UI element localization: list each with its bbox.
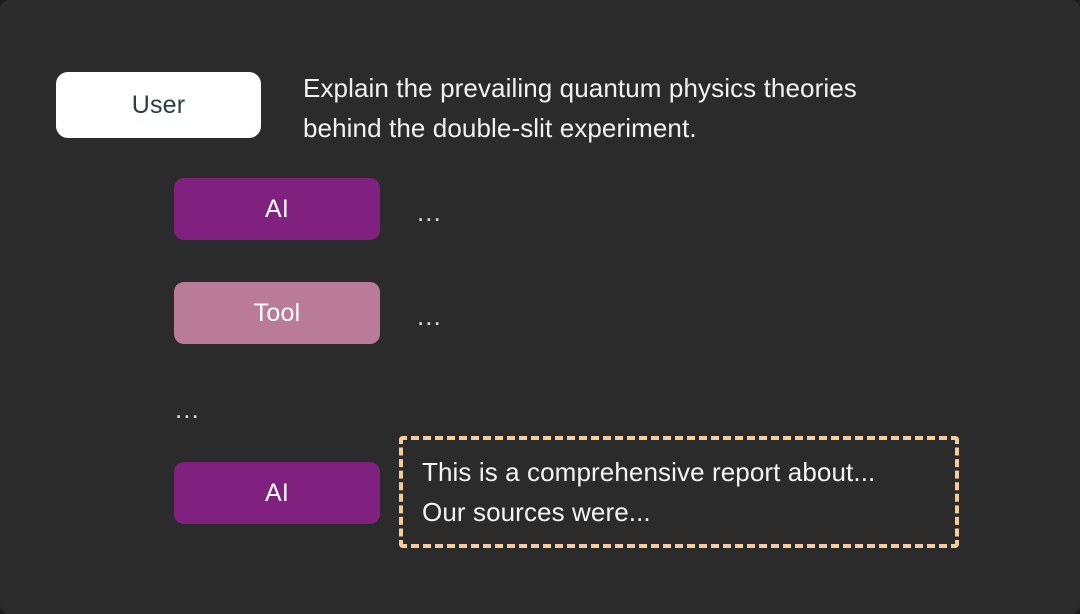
role-badge-tool: Tool xyxy=(174,282,380,344)
final-report-highlight-box: This is a comprehensive report about... … xyxy=(399,436,959,548)
role-badge-ai-final: AI xyxy=(174,462,380,524)
role-badge-user: User xyxy=(56,72,261,138)
final-report-line-2: Our sources were... xyxy=(422,492,955,532)
diagram-canvas: User Explain the prevailing quantum phys… xyxy=(0,0,1080,614)
role-badge-ai-first: AI xyxy=(174,178,380,240)
message-tool-ellipsis: ... xyxy=(417,303,442,329)
message-user: Explain the prevailing quantum physics t… xyxy=(303,68,983,148)
turns-truncation-ellipsis: ... xyxy=(175,396,200,422)
final-report-line-1: This is a comprehensive report about... xyxy=(422,452,955,492)
message-ai-first-ellipsis: ... xyxy=(417,199,442,225)
